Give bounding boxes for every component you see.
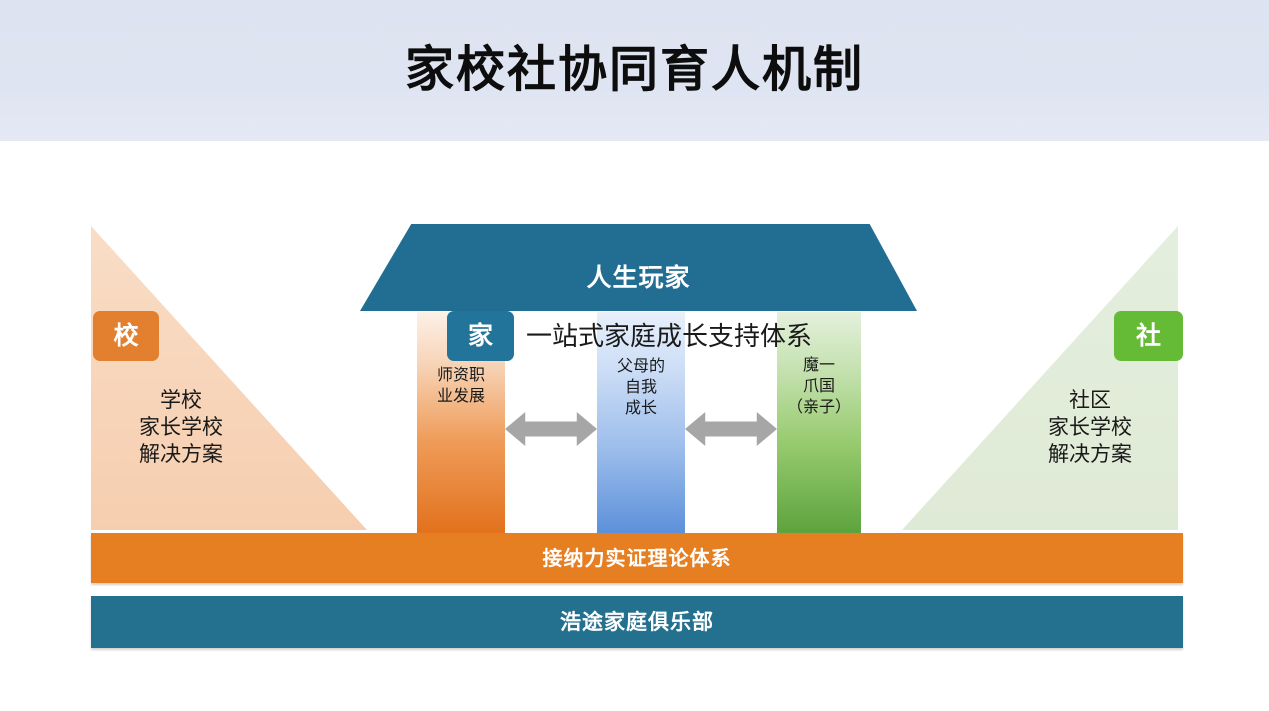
base-bar-theory: 接纳力实证理论体系 <box>91 533 1183 583</box>
double-arrow-horizontal-icon <box>685 412 777 446</box>
roof-shape: 人生玩家 <box>360 224 917 311</box>
base-bar-club: 浩途家庭俱乐部 <box>91 596 1183 648</box>
double-arrow-horizontal-icon <box>505 412 597 446</box>
wing-community: 社区 家长学校 解决方案 <box>902 226 1178 530</box>
page-title: 家校社协同育人机制 <box>0 30 1269 101</box>
pillar-teacher-development-label: 师资职 业发展 <box>409 364 513 406</box>
badge-community: 社 <box>1114 311 1183 361</box>
diagram-area: 学校 家长学校 解决方案 社区 家长学校 解决方案 人生玩家 师资职 业发展 父… <box>0 141 1269 711</box>
roof-label: 人生玩家 <box>360 258 917 294</box>
wing-school: 学校 家长学校 解决方案 <box>91 226 367 530</box>
badge-family: 家 <box>447 311 514 361</box>
pillar-mo-yi-zhua-guo-label: 魔一 爪国 （亲子） <box>769 354 869 417</box>
slide-canvas: 家校社协同育人机制 学校 家长学校 解决方案 社区 家长学校 解决方案 人生玩家… <box>0 0 1269 711</box>
pillar-parent-self-growth-label: 父母的 自我 成长 <box>589 355 693 418</box>
subtitle: 一站式家庭成长支持体系 <box>526 316 812 353</box>
wing-community-label: 社区 家长学校 解决方案 <box>952 387 1228 468</box>
badge-school: 校 <box>93 311 159 361</box>
title-band: 家校社协同育人机制 <box>0 0 1269 141</box>
wing-school-label: 学校 家长学校 解决方案 <box>43 387 319 468</box>
